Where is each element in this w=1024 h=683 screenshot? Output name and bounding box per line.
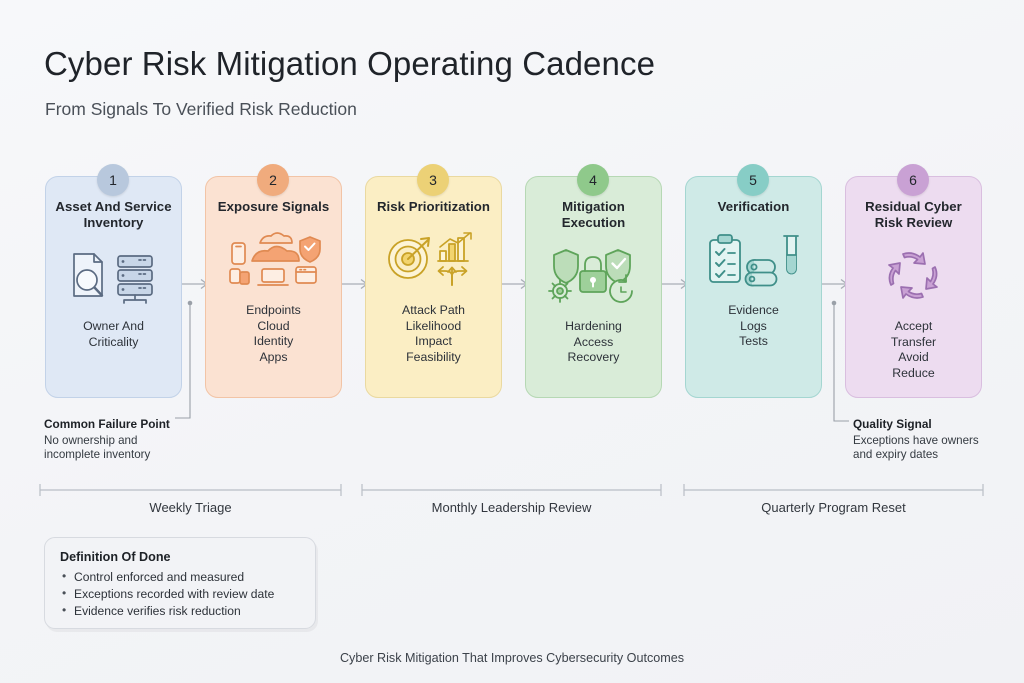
stage-title-3: Risk Prioritization: [373, 199, 494, 215]
cadence-label-quarterly: Quarterly Program Reset: [684, 500, 983, 515]
list-item: Exceptions recorded with review date: [60, 586, 300, 603]
stage-badge-1: 1: [97, 164, 129, 196]
annotation-common-failure-point: Common Failure Point No ownership and in…: [44, 417, 170, 463]
cycle-arrows-icon: [864, 245, 964, 307]
cloud-devices-shield-icon: [224, 229, 324, 291]
stage-badge-2: 2: [257, 164, 289, 196]
annotation-title-left: Common Failure Point: [44, 417, 170, 431]
cadence-label-monthly: Monthly Leadership Review: [362, 500, 661, 515]
stage-card-4[interactable]: Mitigation Execution: [525, 176, 662, 398]
list-item: Control enforced and measured: [60, 569, 300, 586]
stage-body-3: Attack Path Likelihood Impact Feasibilit…: [402, 303, 465, 365]
stage-title-5: Verification: [714, 199, 794, 215]
stage-body-2: Endpoints Cloud Identity Apps: [246, 303, 301, 365]
stage-card-2[interactable]: Exposure Signals Endpoints Clo: [205, 176, 342, 398]
stage-title-2: Exposure Signals: [214, 199, 333, 215]
annotation-text-right: Exceptions have owners and expiry dates: [853, 434, 979, 463]
stage-body-1: Owner And Criticality: [83, 319, 144, 350]
stage-card-1[interactable]: Asset And Service Inventory Ow: [45, 176, 182, 398]
stage-badge-3: 3: [417, 164, 449, 196]
cadence-label-weekly: Weekly Triage: [40, 500, 341, 515]
annotation-quality-signal: Quality Signal Exceptions have owners an…: [853, 417, 979, 463]
target-chart-branch-icon: [384, 229, 484, 291]
shield-lock-gear-clock-icon: [544, 245, 644, 307]
stage-title-1: Asset And Service Inventory: [46, 199, 181, 231]
stage-badge-5: 5: [737, 164, 769, 196]
stage-card-5[interactable]: Verification: [685, 176, 822, 398]
definition-of-done-box: Definition Of Done Control enforced and …: [44, 537, 316, 629]
clipboard-logs-testtube-icon: [704, 229, 804, 291]
definition-of-done-title: Definition Of Done: [60, 550, 300, 564]
stage-body-6: Accept Transfer Avoid Reduce: [891, 319, 936, 381]
stage-card-3[interactable]: Risk Prioritization: [365, 176, 502, 398]
document-search-server-icon: [64, 245, 164, 307]
annotation-text-left: No ownership and incomplete inventory: [44, 434, 170, 463]
stage-body-5: Evidence Logs Tests: [728, 303, 779, 350]
stage-title-4: Mitigation Execution: [526, 199, 661, 231]
annotation-title-right: Quality Signal: [853, 417, 932, 431]
stage-card-6[interactable]: Residual Cyber Risk Review Accept Transf…: [845, 176, 982, 398]
stage-badge-6: 6: [897, 164, 929, 196]
stage-body-4: Hardening Access Recovery: [565, 319, 622, 366]
infographic-canvas: Cyber Risk Mitigation Operating Cadence …: [0, 0, 1024, 683]
stage-title-6: Residual Cyber Risk Review: [846, 199, 981, 231]
definition-of-done-list: Control enforced and measured Exceptions…: [60, 569, 300, 620]
footer-caption: Cyber Risk Mitigation That Improves Cybe…: [0, 651, 1024, 665]
stage-badge-4: 4: [577, 164, 609, 196]
list-item: Evidence verifies risk reduction: [60, 603, 300, 620]
